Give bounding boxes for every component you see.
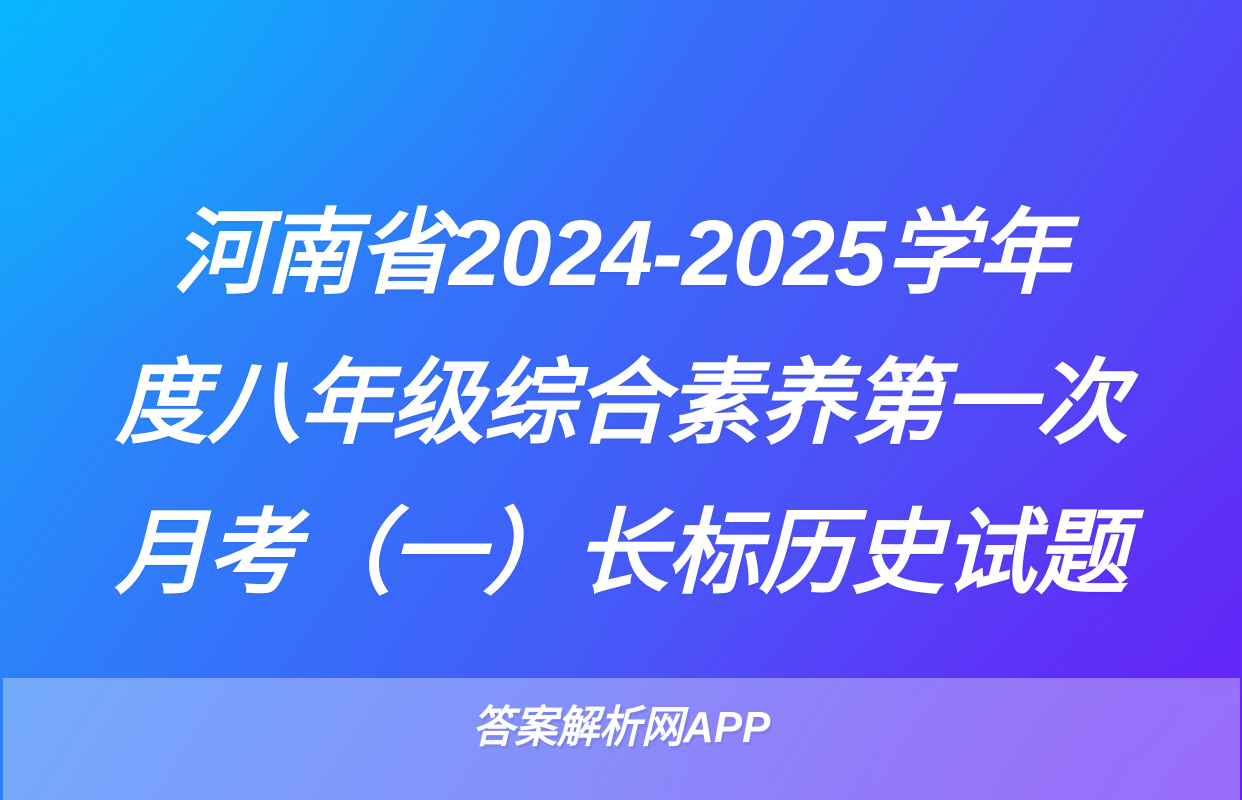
page-title: 河南省2024-2025学年 度八年级综合素养第一次 月考（一）长标历史试题 — [0, 178, 1242, 628]
brand-watermark: 答案解析网APP — [0, 700, 1242, 756]
brand-watermark-label: 答案解析网APP — [472, 700, 770, 756]
title-line-1: 河南省2024-2025学年 — [56, 178, 1186, 328]
exam-cover-card: 河南省2024-2025学年 度八年级综合素养第一次 月考（一）长标历史试题 答… — [0, 0, 1242, 800]
title-line-3: 月考（一）长标历史试题 — [56, 478, 1186, 628]
title-line-2: 度八年级综合素养第一次 — [56, 328, 1186, 478]
